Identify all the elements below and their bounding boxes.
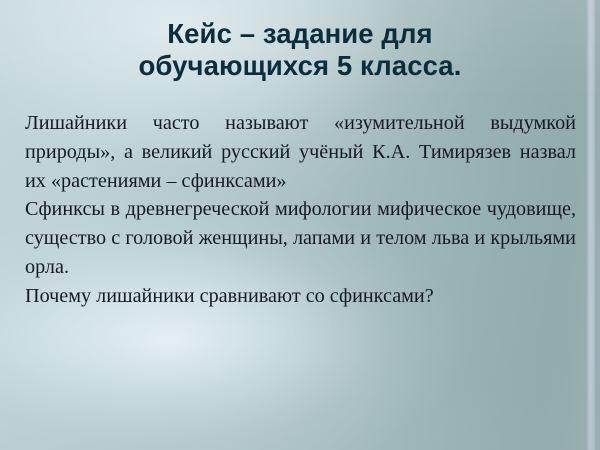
body-paragraph-1: Лишайники часто называют «изумительной в… [25, 109, 576, 195]
slide-body: Лишайники часто называют «изумительной в… [25, 109, 576, 311]
slide-content: Кейс – задание для обучающихся 5 класса.… [0, 0, 600, 450]
body-paragraph-2: Сфинксы в древнегреческой мифологии мифи… [25, 195, 576, 281]
slide-title: Кейс – задание для обучающихся 5 класса. [22, 18, 578, 82]
body-paragraph-3: Почему лишайники сравнивают со сфинксами… [25, 282, 576, 311]
slide-canvas: Кейс – задание для обучающихся 5 класса.… [0, 0, 600, 450]
